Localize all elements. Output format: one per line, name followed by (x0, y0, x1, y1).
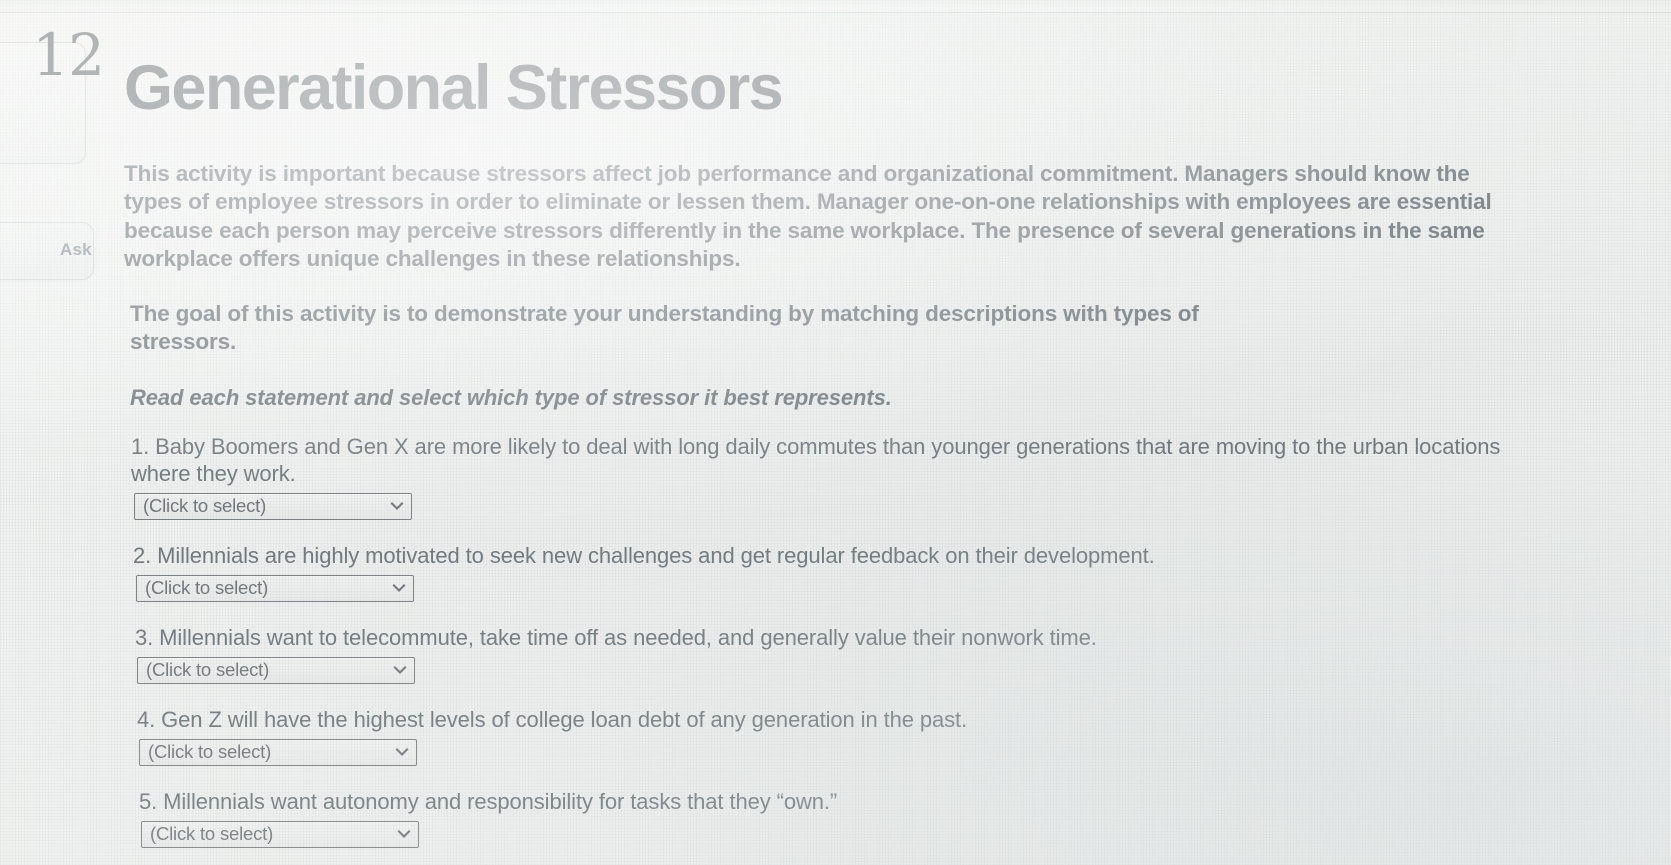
ask-button-label: Ask (60, 240, 92, 260)
question-text: 4. Gen Z will have the highest levels of… (124, 706, 1532, 733)
goal-paragraph: The goal of this activity is to demonstr… (124, 274, 1310, 356)
instruction-text: Read each statement and select which typ… (124, 356, 1544, 411)
intro-paragraph: This activity is important because stres… (124, 122, 1522, 274)
select-control[interactable]: (Click to select) (139, 739, 417, 766)
left-rail: 12 Ask (0, 0, 118, 865)
select-control[interactable]: (Click to select) (137, 657, 415, 684)
select-control[interactable]: (Click to select) (134, 493, 412, 520)
chevron-down-icon[interactable] (389, 498, 405, 514)
main-content: Generational Stressors This activity is … (124, 0, 1544, 865)
chevron-down-icon[interactable] (392, 662, 408, 678)
list-item: 1. Baby Boomers and Gen X are more likel… (124, 433, 1544, 520)
question-number: 12 (32, 26, 104, 84)
chevron-down-icon[interactable] (391, 580, 407, 596)
select-value: (Click to select) (145, 578, 391, 598)
chevron-down-icon[interactable] (396, 826, 412, 842)
select-value: (Click to select) (148, 742, 394, 762)
question-text: 1. Baby Boomers and Gen X are more likel… (124, 433, 1526, 487)
select-value: (Click to select) (146, 660, 392, 680)
stressor-select-2[interactable]: (Click to select) (136, 575, 414, 602)
question-text: 3. Millennials want to telecommute, take… (124, 624, 1530, 651)
select-value: (Click to select) (150, 824, 396, 844)
question-list: 1. Baby Boomers and Gen X are more likel… (124, 411, 1544, 848)
question-text: 5. Millennials want autonomy and respons… (124, 788, 1534, 815)
stressor-select-5[interactable]: (Click to select) (141, 821, 419, 848)
stressor-select-4[interactable]: (Click to select) (139, 739, 417, 766)
select-control[interactable]: (Click to select) (141, 821, 419, 848)
chevron-down-icon[interactable] (394, 744, 410, 760)
activity-screen: 12 Ask Generational Stressors This activ… (0, 0, 1671, 865)
list-item: 2. Millennials are highly motivated to s… (124, 542, 1544, 602)
stressor-select-3[interactable]: (Click to select) (137, 657, 415, 684)
stressor-select-1[interactable]: (Click to select) (134, 493, 412, 520)
page-title: Generational Stressors (124, 0, 1544, 122)
question-text: 2. Millennials are highly motivated to s… (124, 542, 1528, 569)
select-control[interactable]: (Click to select) (136, 575, 414, 602)
list-item: 3. Millennials want to telecommute, take… (124, 624, 1544, 684)
list-item: 5. Millennials want autonomy and respons… (124, 788, 1544, 848)
list-item: 4. Gen Z will have the highest levels of… (124, 706, 1544, 766)
select-value: (Click to select) (143, 496, 389, 516)
